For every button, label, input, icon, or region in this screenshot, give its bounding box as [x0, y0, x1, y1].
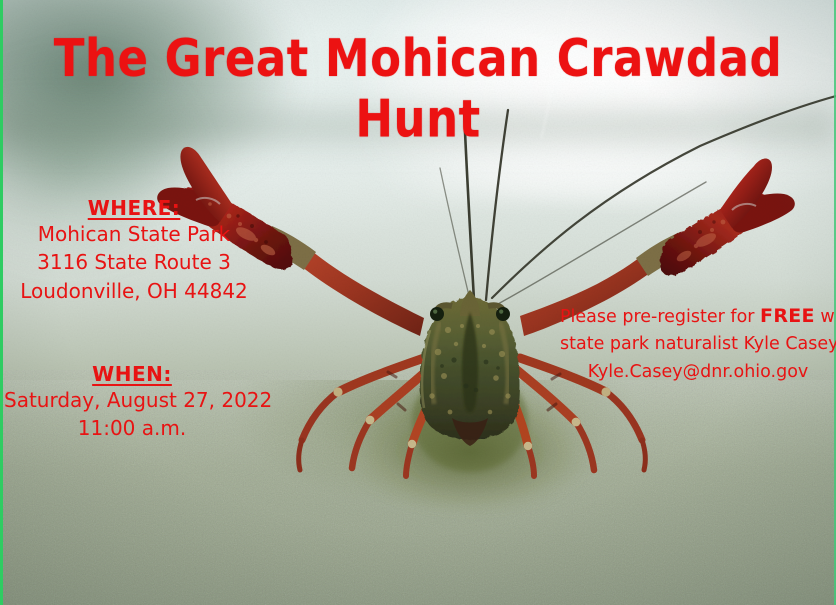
- registration-line-2: state park naturalist Kyle Casey at:: [560, 331, 836, 358]
- where-block: WHERE: Mohican State Park 3116 State Rou…: [18, 196, 250, 305]
- registration-email[interactable]: Kyle.Casey@dnr.ohio.gov: [560, 359, 836, 386]
- when-line-time: 11:00 a.m.: [4, 414, 260, 442]
- when-line-date: Saturday, August 27, 2022: [4, 386, 260, 414]
- event-flyer: The Great Mohican Crawdad Hunt WHERE: Mo…: [0, 0, 836, 605]
- register-free-emphasis: FREE: [760, 305, 815, 327]
- where-line-city: Loudonville, OH 44842: [18, 277, 250, 305]
- poster-title: The Great Mohican Crawdad Hunt: [0, 28, 836, 149]
- where-heading: WHERE:: [18, 196, 250, 220]
- register-prefix: Please pre-register for: [560, 307, 754, 327]
- when-heading: WHEN:: [4, 362, 260, 386]
- register-suffix: with: [820, 307, 836, 327]
- registration-block: Please pre-register for FREE with state …: [560, 302, 836, 386]
- registration-line-1: Please pre-register for FREE with: [560, 302, 836, 331]
- when-block: WHEN: Saturday, August 27, 2022 11:00 a.…: [4, 362, 260, 443]
- where-line-venue: Mohican State Park: [18, 220, 250, 248]
- where-line-street: 3116 State Route 3: [18, 248, 250, 276]
